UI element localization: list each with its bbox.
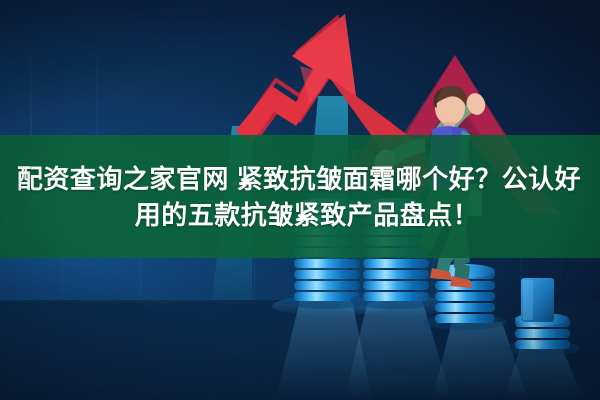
banner-image: 配资查询之家官网 紧致抗皱面霜哪个好？公认好 用的五款抗皱紧致产品盘点！ (0, 0, 600, 400)
vignette-overlay (0, 0, 600, 400)
